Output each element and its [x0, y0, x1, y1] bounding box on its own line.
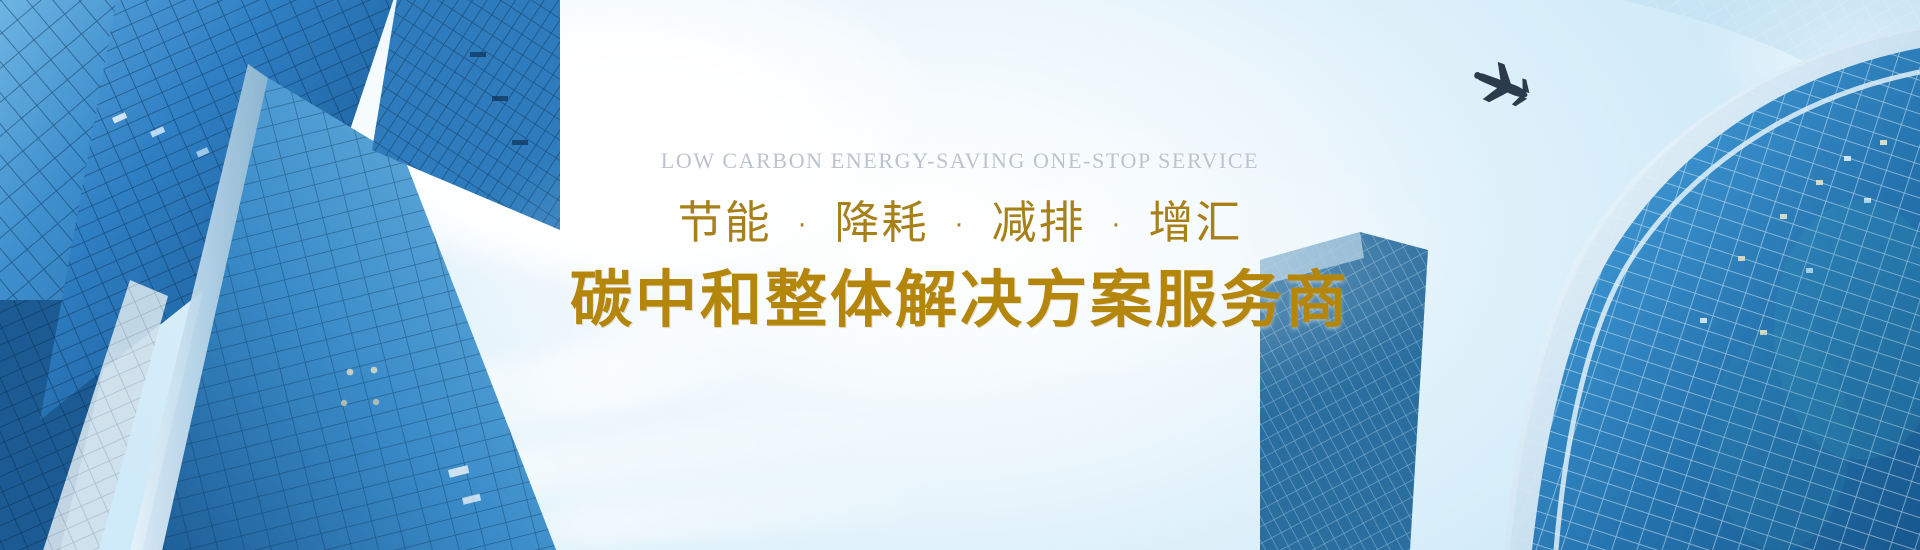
subtitle-separator-3: · [1102, 211, 1132, 241]
airplane-icon [1466, 58, 1536, 114]
subtitle-part-3: 减排 [991, 196, 1085, 249]
subtitle-separator-1: · [788, 211, 818, 241]
subtitle-part-2: 降耗 [835, 196, 929, 249]
subtitle-separator-2: · [945, 211, 975, 241]
banner-headline: 碳中和整体解决方案服务商 [0, 264, 1920, 335]
english-tagline: LOW CARBON ENERGY-SAVING ONE-STOP SERVIC… [0, 150, 1920, 172]
subtitle-part-4: 增汇 [1148, 196, 1242, 249]
subtitle-line: 节能 · 降耗 · 减排 · 增汇 [0, 198, 1920, 248]
subtitle-part-1: 节能 [678, 196, 772, 249]
banner-copy-block: LOW CARBON ENERGY-SAVING ONE-STOP SERVIC… [0, 150, 1920, 335]
hero-banner: LOW CARBON ENERGY-SAVING ONE-STOP SERVIC… [0, 0, 1920, 550]
